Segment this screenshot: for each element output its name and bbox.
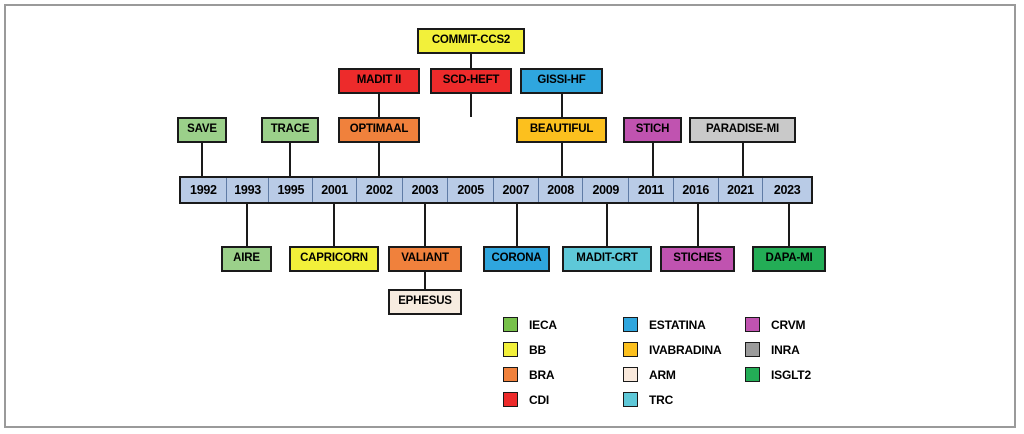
- connector-line: [516, 204, 518, 246]
- year-cell-2016[interactable]: 2016: [674, 178, 719, 202]
- study-box-madit-crt[interactable]: MADIT-CRT: [562, 246, 653, 272]
- legend-label-bb: BB: [529, 343, 546, 357]
- legend-item-ieca[interactable]: IECA: [503, 312, 623, 337]
- legend-item-bra[interactable]: BRA: [503, 362, 623, 387]
- legend-column-2: CRVMINRAISGLT2: [745, 312, 855, 412]
- legend-label-cdi: CDI: [529, 393, 549, 407]
- legend-label-arm: ARM: [649, 368, 676, 382]
- year-cell-2009[interactable]: 2009: [583, 178, 629, 202]
- year-cell-2011[interactable]: 2011: [629, 178, 674, 202]
- study-box-dapa-mi[interactable]: DAPA-MI: [752, 246, 827, 272]
- legend-label-estatina: ESTATINA: [649, 318, 706, 332]
- legend-swatch-ivabradina: [623, 342, 638, 357]
- year-cell-2023[interactable]: 2023: [763, 178, 811, 202]
- legend-item-ivabradina[interactable]: IVABRADINA: [623, 337, 745, 362]
- year-cell-2008[interactable]: 2008: [539, 178, 584, 202]
- legend-column-0: IECABBBRACDI: [503, 312, 623, 412]
- legend-swatch-isglt2: [745, 367, 760, 382]
- connector-line: [470, 94, 472, 117]
- study-box-ephesus[interactable]: EPHESUS: [388, 289, 463, 315]
- year-cell-2003[interactable]: 2003: [403, 178, 449, 202]
- connector-line: [246, 204, 248, 246]
- study-box-madit-ii[interactable]: MADIT II: [338, 68, 421, 94]
- legend-item-bb[interactable]: BB: [503, 337, 623, 362]
- legend-label-isglt2: ISGLT2: [771, 368, 811, 382]
- study-box-trace[interactable]: TRACE: [261, 117, 320, 143]
- study-box-aire[interactable]: AIRE: [221, 246, 271, 272]
- connector-line: [697, 204, 699, 246]
- legend-item-trc[interactable]: TRC: [623, 387, 745, 412]
- legend-label-ieca: IECA: [529, 318, 557, 332]
- year-cell-2005[interactable]: 2005: [448, 178, 494, 202]
- legend-item-isglt2[interactable]: ISGLT2: [745, 362, 855, 387]
- legend-swatch-cdi: [503, 392, 518, 407]
- year-cell-2007[interactable]: 2007: [494, 178, 539, 202]
- figure-frame: SAVETRACEOPTIMAALMADIT IISCD-HEFTCOMMIT-…: [4, 4, 1016, 428]
- legend-item-arm[interactable]: ARM: [623, 362, 745, 387]
- connector-line: [470, 54, 472, 68]
- connector-line: [561, 94, 563, 117]
- connector-line: [606, 204, 608, 246]
- connector-line: [333, 204, 335, 246]
- connector-line: [788, 204, 790, 246]
- legend-swatch-bra: [503, 367, 518, 382]
- legend-label-crvm: CRVM: [771, 318, 805, 332]
- study-box-stiches[interactable]: STICHES: [660, 246, 735, 272]
- study-box-stich[interactable]: STICH: [623, 117, 682, 143]
- connector-line: [652, 143, 654, 176]
- connector-line: [378, 94, 380, 117]
- connector-line: [561, 143, 563, 176]
- legend-swatch-arm: [623, 367, 638, 382]
- legend-column-1: ESTATINAIVABRADINAARMTRC: [623, 312, 745, 412]
- legend: IECABBBRACDIESTATINAIVABRADINAARMTRCCRVM…: [503, 312, 855, 412]
- study-box-optimaal[interactable]: OPTIMAAL: [338, 117, 421, 143]
- legend-label-trc: TRC: [649, 393, 673, 407]
- connector-line: [201, 143, 203, 176]
- year-cell-2021[interactable]: 2021: [719, 178, 764, 202]
- connector-line: [378, 143, 380, 176]
- study-box-gissi-hf[interactable]: GISSI-HF: [520, 68, 603, 94]
- study-box-save[interactable]: SAVE: [177, 117, 227, 143]
- connector-line: [424, 272, 426, 289]
- study-box-corona[interactable]: CORONA: [483, 246, 550, 272]
- year-cell-2002[interactable]: 2002: [357, 178, 403, 202]
- legend-swatch-trc: [623, 392, 638, 407]
- timeline-axis: 1992199319952001200220032005200720082009…: [179, 176, 813, 204]
- legend-swatch-inra: [745, 342, 760, 357]
- legend-item-cdi[interactable]: CDI: [503, 387, 623, 412]
- study-box-beautiful[interactable]: BEAUTIFUL: [516, 117, 607, 143]
- legend-item-inra[interactable]: INRA: [745, 337, 855, 362]
- study-box-paradise-mi[interactable]: PARADISE-MI: [689, 117, 796, 143]
- figure-canvas: SAVETRACEOPTIMAALMADIT IISCD-HEFTCOMMIT-…: [0, 0, 1024, 434]
- study-box-commit-ccs2[interactable]: COMMIT-CCS2: [417, 28, 524, 54]
- legend-swatch-estatina: [623, 317, 638, 332]
- legend-item-crvm[interactable]: CRVM: [745, 312, 855, 337]
- legend-label-bra: BRA: [529, 368, 554, 382]
- legend-item-estatina[interactable]: ESTATINA: [623, 312, 745, 337]
- year-cell-1995[interactable]: 1995: [269, 178, 313, 202]
- connector-line: [424, 204, 426, 246]
- connector-line: [289, 143, 291, 176]
- year-cell-2001[interactable]: 2001: [313, 178, 357, 202]
- connector-line: [742, 143, 744, 176]
- year-cell-1992[interactable]: 1992: [181, 178, 227, 202]
- legend-label-ivabradina: IVABRADINA: [649, 343, 721, 357]
- legend-swatch-crvm: [745, 317, 760, 332]
- study-box-capricorn[interactable]: CAPRICORN: [289, 246, 380, 272]
- legend-swatch-ieca: [503, 317, 518, 332]
- legend-label-inra: INRA: [771, 343, 800, 357]
- year-cell-1993[interactable]: 1993: [227, 178, 270, 202]
- legend-swatch-bb: [503, 342, 518, 357]
- study-box-valiant[interactable]: VALIANT: [388, 246, 463, 272]
- study-box-scd-heft[interactable]: SCD-HEFT: [430, 68, 513, 94]
